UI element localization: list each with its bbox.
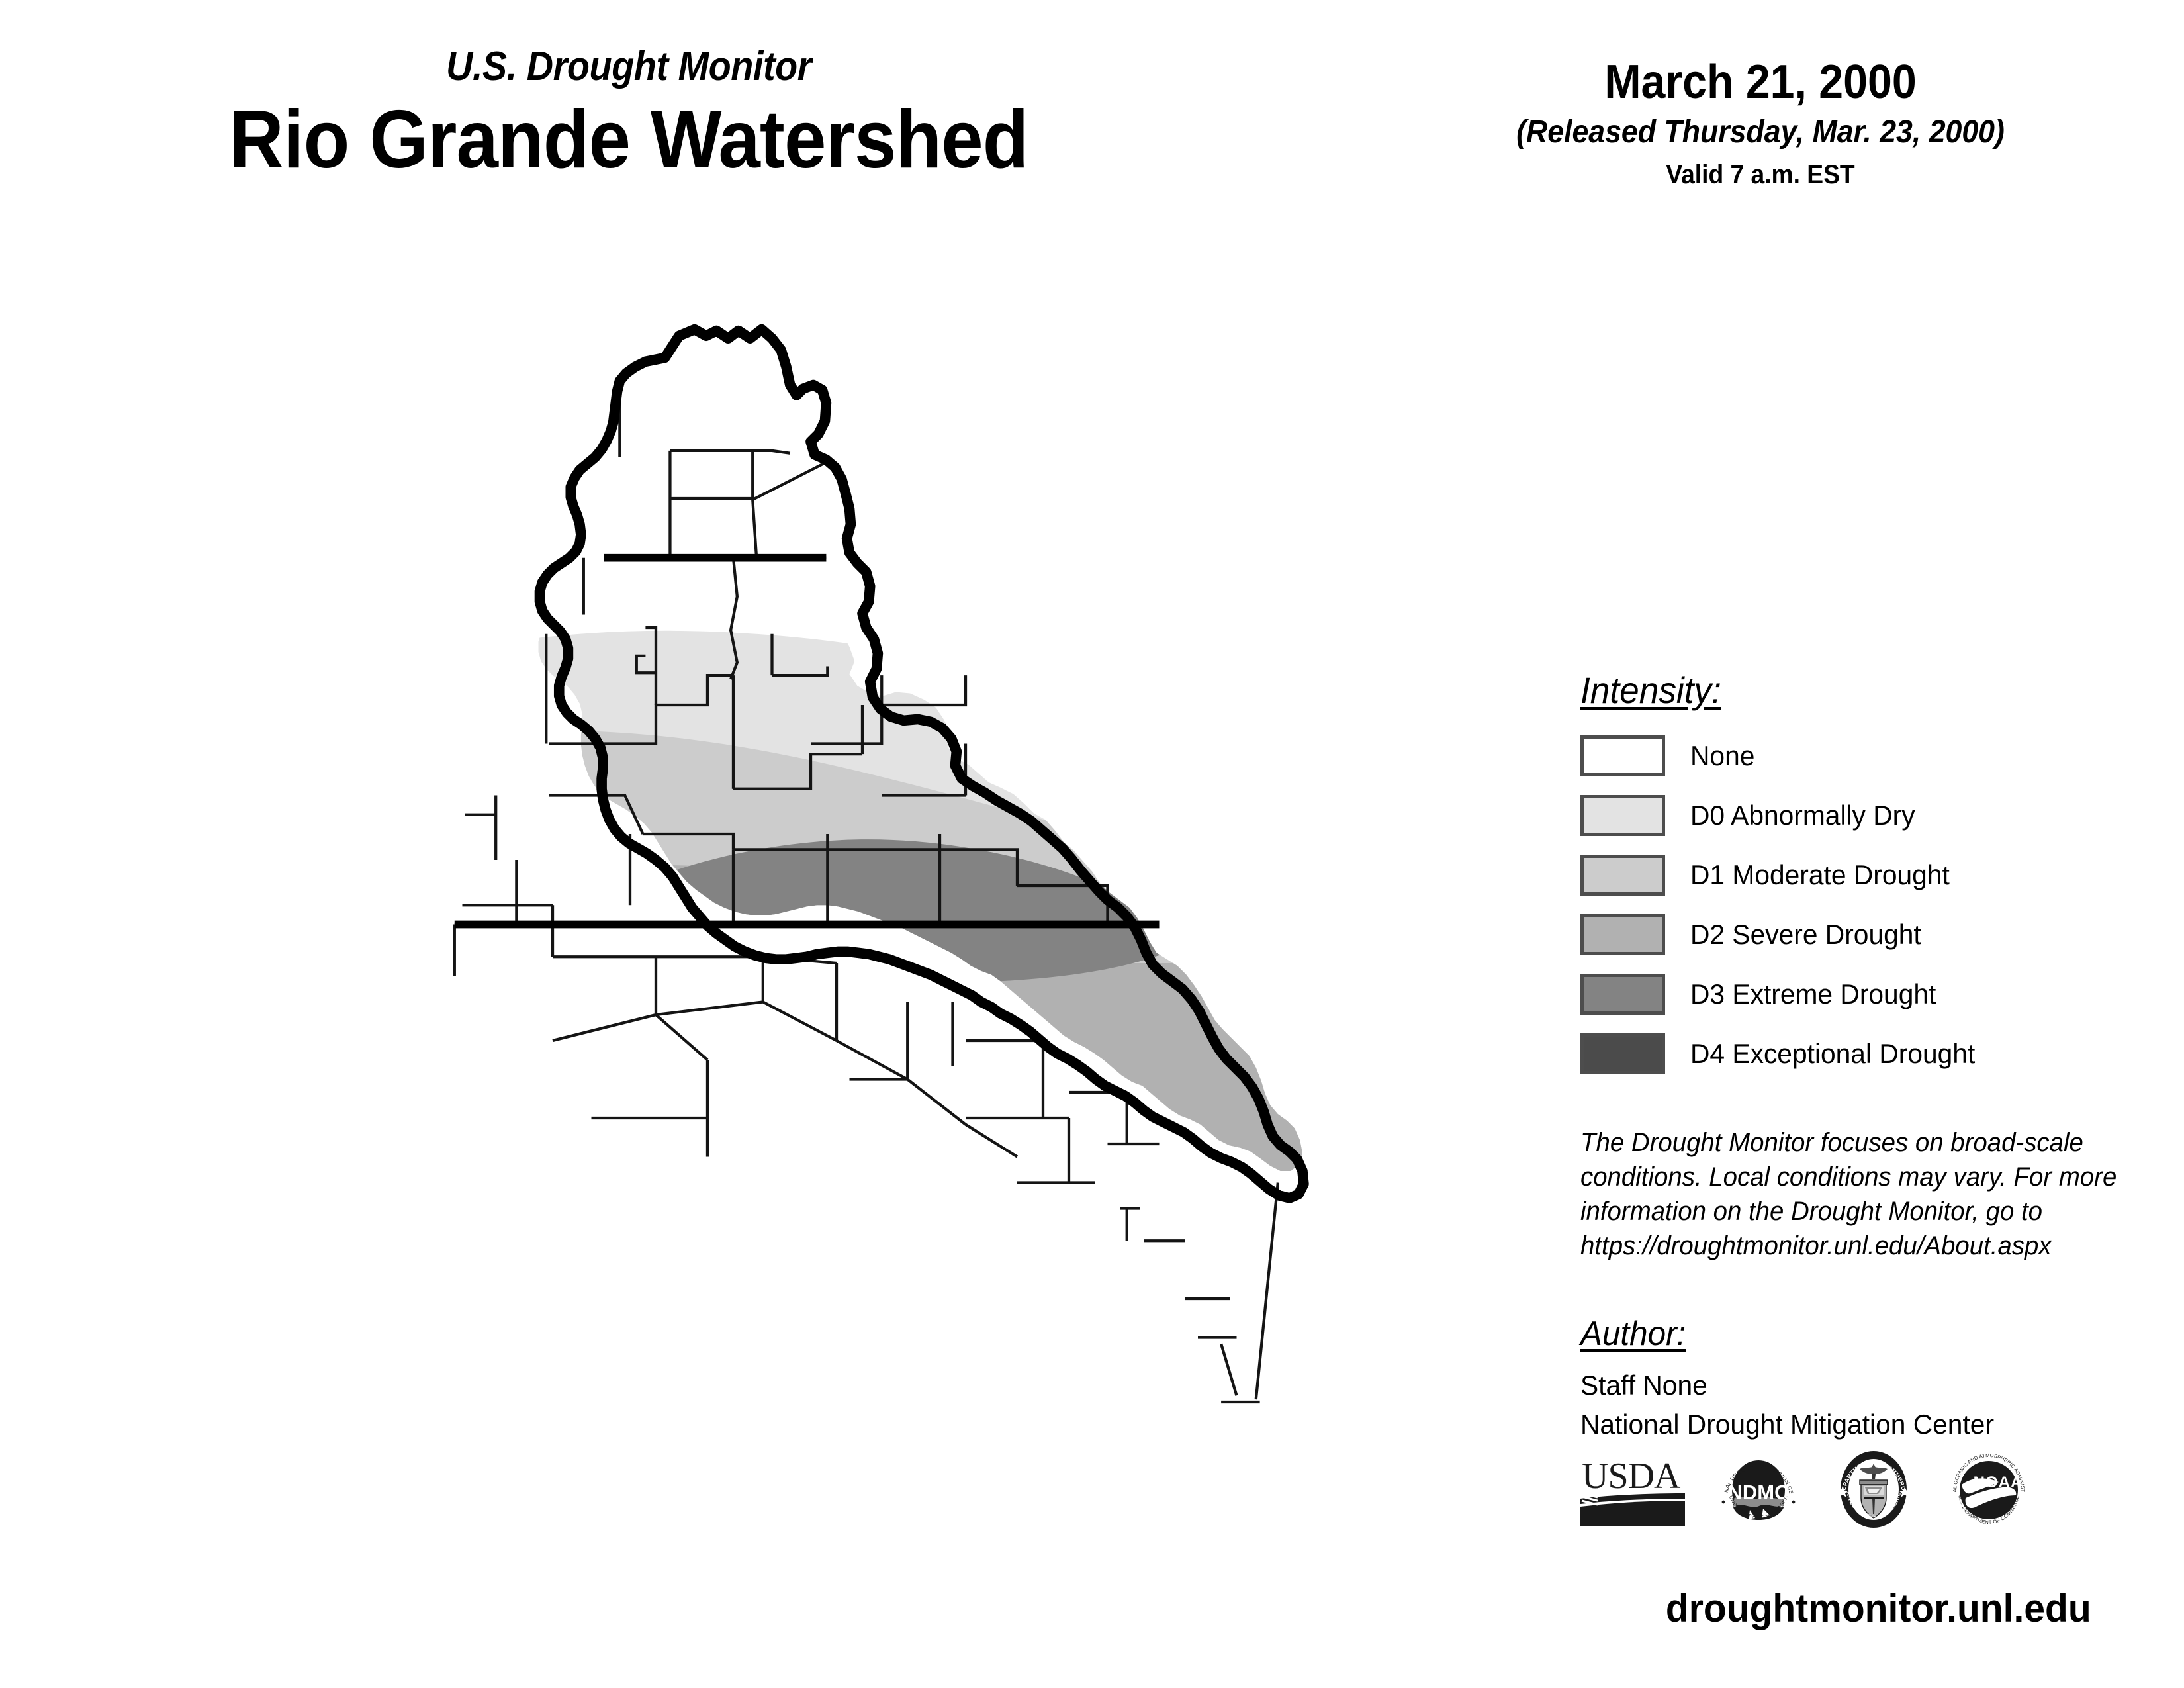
legend-swatch-d4 — [1580, 1033, 1665, 1074]
usda-logo[interactable]: USDA — [1580, 1450, 1686, 1532]
legend-row-d0[interactable]: D0 Abnormally Dry — [1580, 786, 2163, 845]
legend-row-d3[interactable]: D3 Extreme Drought — [1580, 964, 2163, 1024]
legend-label-d1: D1 Moderate Drought — [1690, 861, 1950, 889]
legend-label-d2: D2 Severe Drought — [1690, 921, 1921, 949]
legend-label-none: None — [1690, 742, 1754, 770]
noaa-logo[interactable]: NOAA NATIONAL OCEANIC AND ATMOSPHERIC AD… — [1946, 1446, 2032, 1536]
drought-monitor-supertitle: U.S. Drought Monitor — [63, 46, 1195, 87]
legend-swatch-d0 — [1580, 795, 1665, 836]
legend-heading: Intensity: — [1580, 669, 1721, 712]
legend-label-d0: D0 Abnormally Dry — [1690, 802, 1915, 829]
logo-row: USDA NDMC NATIONAL DROUGHT MITIGATION CE… — [1580, 1446, 2176, 1536]
disclaimer-line-1: The Drought Monitor focuses on broad-sca… — [1580, 1125, 2152, 1160]
page-title: Rio Grande Watershed — [50, 97, 1207, 183]
legend-swatch-none — [1580, 735, 1665, 776]
disclaimer-line-2: conditions. Local conditions may vary. F… — [1580, 1160, 2152, 1194]
title-block: U.S. Drought Monitor Rio Grande Watershe… — [0, 46, 1257, 183]
legend-swatch-d3 — [1580, 974, 1665, 1015]
author-section: Author: Staff None National Drought Miti… — [1580, 1314, 2176, 1441]
legend-row-d2[interactable]: D2 Severe Drought — [1580, 905, 2163, 964]
release-note: (Released Thursday, Mar. 23, 2000) — [1434, 117, 2087, 148]
drought-map[interactable] — [165, 318, 1456, 1609]
legend-row-none[interactable]: None — [1580, 726, 2163, 786]
author-name: Staff None — [1580, 1368, 2158, 1402]
legend-label-d3: D3 Extreme Drought — [1690, 980, 1936, 1008]
ndmc-logo[interactable]: NDMC NATIONAL DROUGHT MITIGATION CENTER … — [1715, 1446, 1801, 1536]
website-url-text: droughtmonitor.unl.edu — [1666, 1589, 2091, 1628]
noaa-logo-text: NOAA — [1974, 1474, 2023, 1491]
usda-logo-svg: USDA — [1580, 1450, 1686, 1529]
disclaimer-text: The Drought Monitor focuses on broad-sca… — [1580, 1125, 2176, 1263]
legend-swatch-d2 — [1580, 914, 1665, 955]
doc-seal-logo[interactable]: DEPARTMENT OF COMMERCE UNITED STATES OF … — [1831, 1446, 1917, 1536]
legend: Intensity: None D0 Abnormally Dry D1 Mod… — [1580, 669, 2163, 1084]
legend-label-d4: D4 Exceptional Drought — [1690, 1040, 1975, 1068]
website-url[interactable]: droughtmonitor.unl.edu — [1580, 1589, 2176, 1628]
ndmc-logo-text: NDMC — [1728, 1481, 1790, 1504]
doc-seal-svg: DEPARTMENT OF COMMERCE UNITED STATES OF … — [1831, 1446, 1917, 1532]
disclaimer-line-3: information on the Drought Monitor, go t… — [1580, 1194, 2152, 1229]
legend-row-d4[interactable]: D4 Exceptional Drought — [1580, 1024, 2163, 1084]
ndmc-logo-svg: NDMC NATIONAL DROUGHT MITIGATION CENTER … — [1715, 1446, 1801, 1532]
date-block: March 21, 2000 (Released Thursday, Mar. … — [1410, 58, 2111, 188]
valid-time: Valid 7 a.m. EST — [1434, 162, 2087, 188]
legend-items: None D0 Abnormally Dry D1 Moderate Droug… — [1580, 726, 2163, 1084]
usda-logo-text: USDA — [1582, 1456, 1681, 1497]
legend-swatch-d1 — [1580, 855, 1665, 896]
band-d2 — [165, 865, 1456, 1609]
author-heading: Author: — [1580, 1314, 1686, 1354]
noaa-logo-svg: NOAA NATIONAL OCEANIC AND ATMOSPHERIC AD… — [1946, 1446, 2032, 1532]
disclaimer-about-link[interactable]: https://droughtmonitor.unl.edu/About.asp… — [1580, 1229, 2152, 1263]
author-affiliation: National Drought Mitigation Center — [1580, 1407, 2158, 1441]
legend-row-d1[interactable]: D1 Moderate Drought — [1580, 845, 2163, 905]
map-svg[interactable] — [165, 318, 1456, 1609]
valid-date: March 21, 2000 — [1437, 58, 2083, 106]
